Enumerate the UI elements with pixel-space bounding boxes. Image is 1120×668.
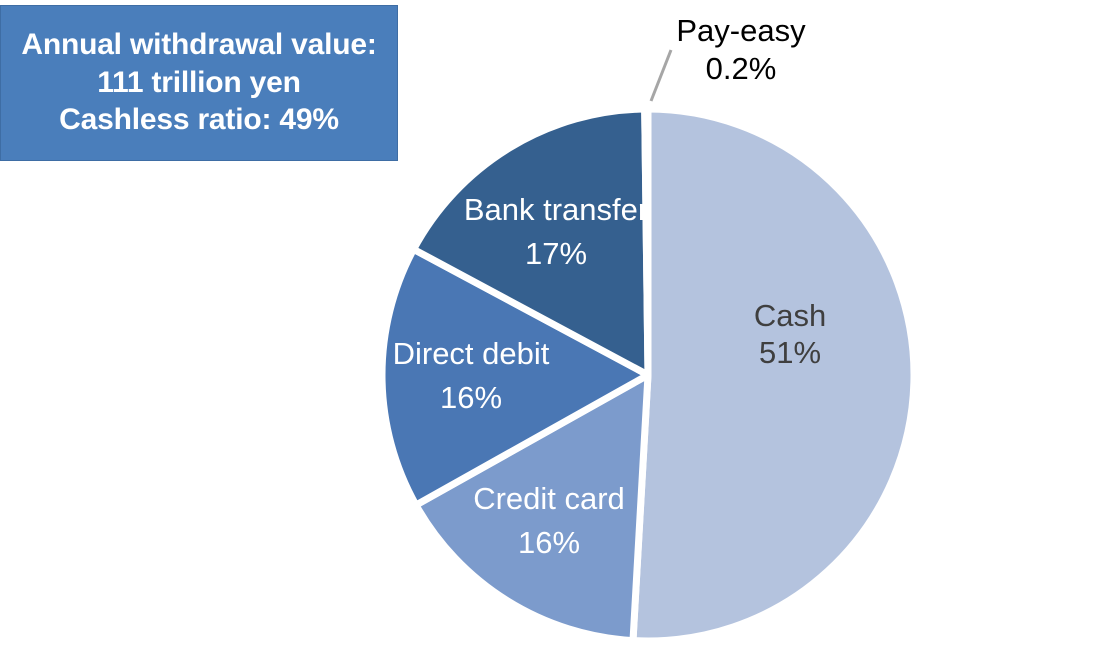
withdrawal-breakdown-pie-chart: Cash51%Credit card16%Direct debit16%Bank… xyxy=(0,0,1120,668)
pie-slice-cash[interactable] xyxy=(633,109,914,641)
pie-label-cash: Cash xyxy=(754,298,826,333)
pie-slice-group xyxy=(382,109,914,641)
pie-value-cash: 51% xyxy=(759,335,821,370)
pie-label-credit-card: Credit card xyxy=(473,481,625,516)
pie-label-bank-transfer: Bank transfer xyxy=(464,192,648,227)
pie-value-bank-transfer: 17% xyxy=(525,236,587,271)
pie-value-pay-easy: 0.2% xyxy=(706,51,777,86)
pie-value-direct-debit: 16% xyxy=(440,380,502,415)
pie-label-pay-easy: Pay-easy xyxy=(676,13,806,48)
pie-slice-pay-easy[interactable] xyxy=(645,109,648,375)
pie-leader-line-group xyxy=(651,50,671,101)
leader-line-pay-easy xyxy=(651,50,671,101)
pie-value-credit-card: 16% xyxy=(518,525,580,560)
chart-canvas: Annual withdrawal value: 111 trillion ye… xyxy=(0,0,1120,668)
pie-label-direct-debit: Direct debit xyxy=(393,336,550,371)
